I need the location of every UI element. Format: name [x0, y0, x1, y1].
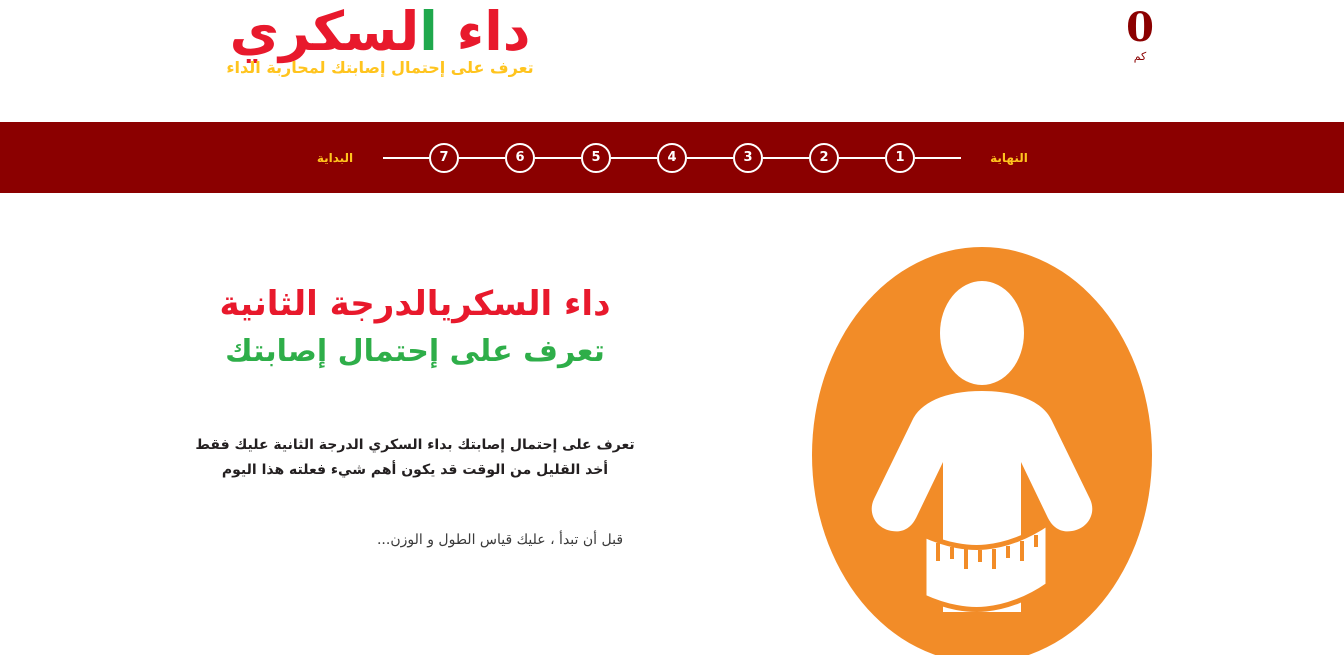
step-circle-3[interactable]: 3 — [733, 143, 763, 173]
intro-text-block: داء السكريالدرجة الثانية تعرف على إحتمال… — [180, 283, 650, 548]
stepper-line — [763, 157, 809, 159]
step-circle-5[interactable]: 5 — [581, 143, 611, 173]
intro-paragraph: تعرف على إحتمال إصابتك بداء السكري الدرج… — [180, 433, 650, 485]
step-circle-2[interactable]: 2 — [809, 143, 839, 173]
stepper-line — [611, 157, 657, 159]
step-circle-4[interactable]: 4 — [657, 143, 687, 173]
question-counter: 0 كم — [1100, 8, 1180, 63]
person-waist-measurement-icon — [806, 205, 1158, 655]
stepper-line — [915, 157, 961, 159]
intro-line-1: تعرف على إحتمال إصابتك بداء السكري الدرج… — [180, 433, 650, 459]
logo-title-accent: ا — [419, 0, 438, 63]
stepper-line — [383, 157, 429, 159]
page-header: داء السكري تعرف على إحتمال إصابتك لمحارب… — [0, 0, 1344, 122]
progress-stepper: 7 6 5 4 3 2 1 — [383, 143, 961, 173]
logo-tagline: تعرف على إحتمال إصابتك لمحاربة الداء — [180, 58, 580, 77]
main-content: داء السكريالدرجة الثانية تعرف على إحتمال… — [0, 193, 1344, 658]
logo-title-part1: داء — [457, 0, 531, 63]
page-subtitle: تعرف على إحتمال إصابتك — [180, 332, 650, 371]
pre-start-note: قبل أن تبدأ ، عليك قياس الطول و الوزن... — [180, 532, 650, 548]
progress-start-label: البداية — [287, 151, 383, 165]
counter-label: كم — [1100, 50, 1180, 63]
counter-value: 0 — [1100, 8, 1180, 48]
stepper-line — [459, 157, 505, 159]
step-circle-6[interactable]: 6 — [505, 143, 535, 173]
step-circle-7[interactable]: 7 — [429, 143, 459, 173]
logo-title-part2: لسكري — [230, 0, 420, 63]
site-logo[interactable]: داء السكري تعرف على إحتمال إصابتك لمحارب… — [180, 0, 580, 77]
progress-band: النهاية 7 6 5 4 3 2 1 البداية — [0, 122, 1344, 193]
step-circle-1[interactable]: 1 — [885, 143, 915, 173]
stepper-line — [535, 157, 581, 159]
logo-title: داء السكري — [180, 2, 580, 62]
stepper-line — [839, 157, 885, 159]
stepper-line — [687, 157, 733, 159]
progress-end-label: النهاية — [961, 151, 1057, 165]
page-title: داء السكريالدرجة الثانية — [180, 283, 650, 326]
intro-line-2: أخد القليل من الوقت قد يكون أهم شيء فعلت… — [180, 458, 650, 484]
